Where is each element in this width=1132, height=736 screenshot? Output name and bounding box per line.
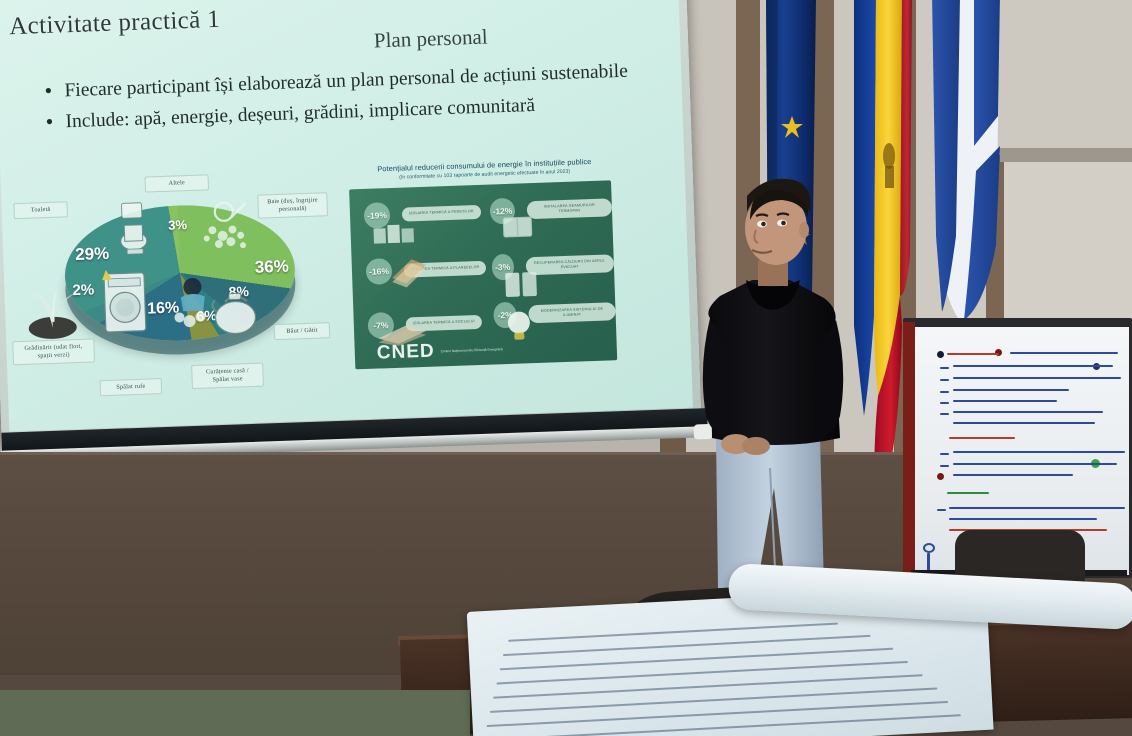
ceiling-soffit [985,0,1132,155]
standing-presenter [690,168,865,598]
energy-label-lighting: MODERNIZAREA SISTEMULUI DE ILUMINAT [528,302,615,324]
cned-wordmark: CNED [376,341,435,365]
energy-label-walls: IZOLAREA TERMICĂ A PEREȚILOR [402,205,481,221]
note-line-11 [953,474,1073,476]
note-dash-4 [940,402,949,404]
pie-label-curatenie: Curățenie casă / Spălat vase [191,363,264,389]
pie-value-toaleta: 29% [75,244,110,265]
sticker-dot-5 [937,473,944,480]
lightbulb-icon [503,309,534,342]
sticker-dot-1 [937,351,944,358]
note-dash-6 [940,453,949,455]
cned-logo: CNED Centrul Național pentru Eficiență E… [376,338,503,364]
note-line-7 [953,411,1103,413]
note-dash-3 [940,391,949,393]
note-dash-5 [940,413,949,415]
pie-value-altele: 3% [168,217,187,233]
slide-title: Activitate practică 1 [9,6,221,41]
note-line-9 [953,451,1125,453]
ceiling-soffit-shadow [1000,148,1132,162]
slide-subtitle: Plan personal [374,25,489,54]
energy-card: -19% IZOLAREA TERMICĂ A PEREȚILOR -12% I… [349,180,617,369]
note-line-13 [949,518,1097,520]
note-line-4 [953,377,1121,379]
shower-icon [197,194,269,258]
projection-screen: Activitate practică 1 Plan personal Fiec… [0,0,708,462]
note-line-1 [947,353,999,355]
pie-value-baie: 36% [254,257,289,278]
note-dash-1 [940,367,949,369]
slide-bullet-list: Fiecare participant își elaborează un pl… [42,59,654,142]
ventilation-unit-icon [504,271,539,298]
note-line-5 [953,389,1069,391]
note-dash-2 [940,379,949,381]
cned-tagline: Centrul Național pentru Eficiență Energe… [441,347,503,354]
note-line-12 [949,507,1125,509]
building-icon [372,221,417,245]
pie-label-altele: Altele [145,174,210,192]
energy-label-heat-recovery: RECUPERAREA CĂLDURII DIN AERUL EVACUAT [525,254,614,276]
energy-panel-heading: Potențialul reducerii consumului de ener… [354,156,614,182]
note-dash-7 [940,465,949,467]
water-consumption-pie-chart: Altele Toaletă Baie (duș, îngrijire pers… [7,170,345,411]
note-section-3-title [947,492,989,494]
pie-label-spalat-rufe: Spălat rufe [100,378,163,396]
flipchart-side-rail [903,322,915,574]
energy-reduction-panel: Potențialul reducerii consumului de ener… [340,156,626,392]
washing-machine-icon [98,266,152,340]
note-line-10 [953,463,1117,465]
plant-watering-icon [22,263,83,345]
note-line-6 [953,400,1057,402]
note-line-8 [953,422,1095,424]
kettle-icon [206,280,266,338]
note-section-2-title [949,437,1015,439]
note-line-3 [953,365,1113,367]
insulation-layers-icon [387,253,428,288]
pie-label-toaleta: Toaletă [13,201,68,219]
presentation-slide: Activitate practică 1 Plan personal Fiec… [0,0,693,431]
pie-label-baut-gatit: Băut / Gătit [274,322,331,340]
papers-on-table [467,584,1004,736]
conference-room-photo: Activitate practică 1 Plan personal Fiec… [0,0,1132,736]
note-line-2 [1010,352,1118,354]
toilet-icon [113,200,157,263]
note-mark-2 [923,543,935,553]
regional-blue-white-flag [930,0,1006,326]
energy-label-windows: INSTALAREA GEAMURILOR TERMOPAN [527,198,613,220]
window-icon [502,215,535,240]
screen-surface: Activitate practică 1 Plan personal Fiec… [0,0,701,444]
table-left-surface [0,690,470,736]
note-dash-8 [937,509,946,511]
